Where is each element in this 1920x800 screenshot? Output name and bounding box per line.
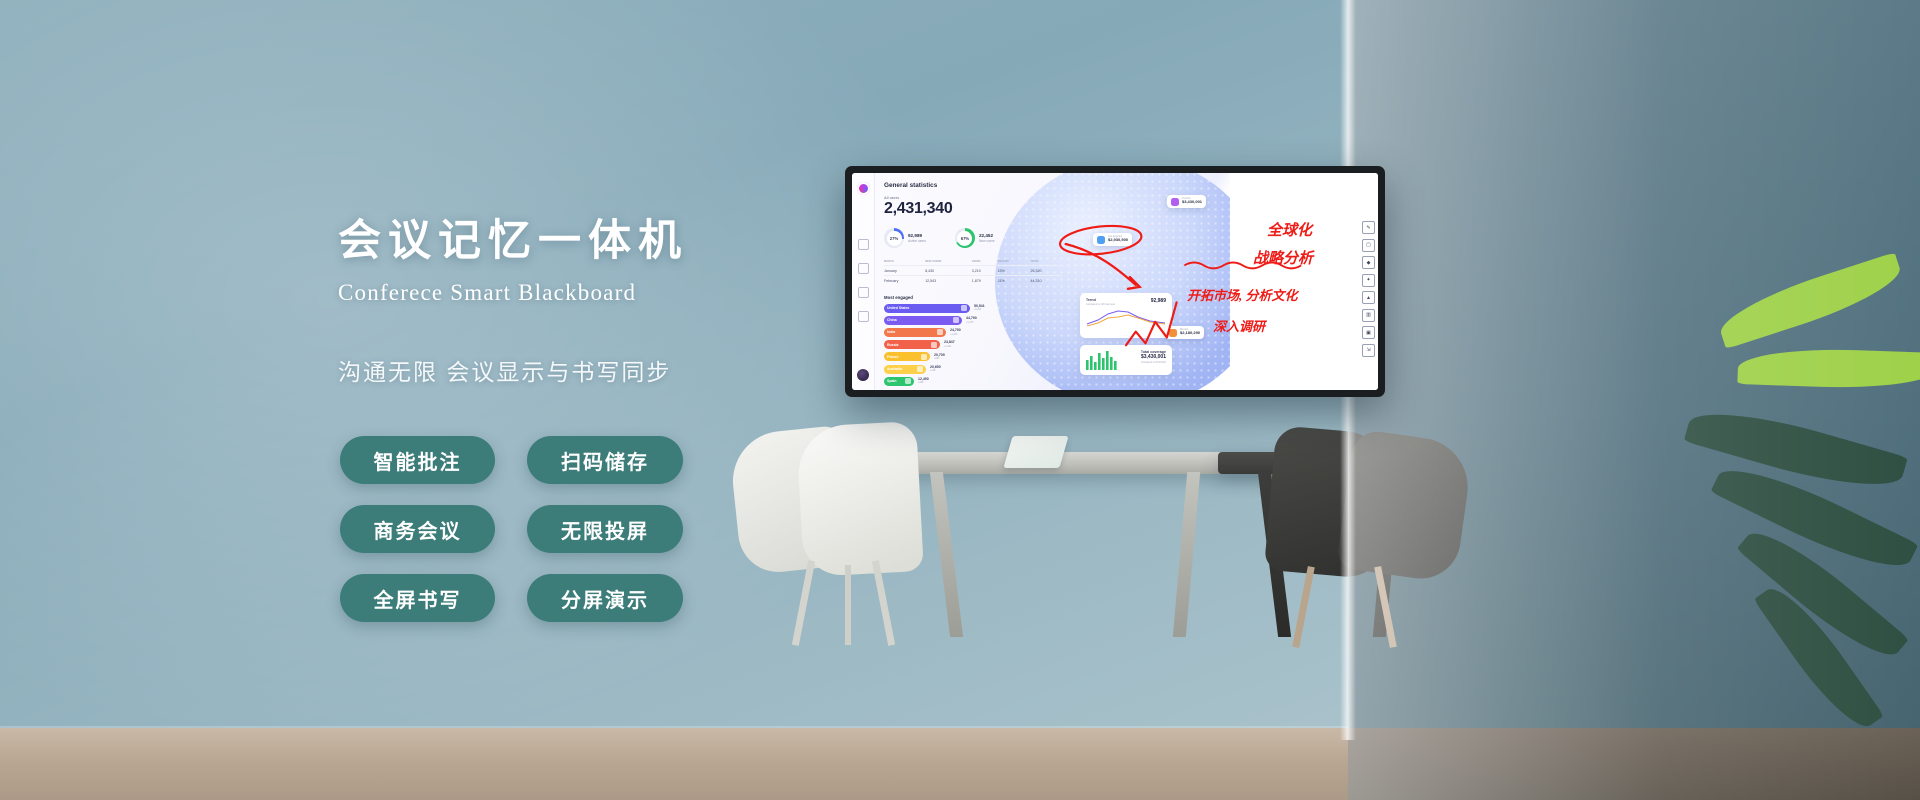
feature-pill-business-meeting[interactable]: 商务会议 [340,505,495,553]
feature-pill-fullscreen-write[interactable]: 全屏书写 [340,574,495,622]
sidebar-nav [858,239,869,322]
marker-value: $2,930,500 [1108,238,1128,243]
table-cell: 12,543 [925,276,972,286]
trend-card: Trend Compared to 12% last year 92,989 [1080,293,1172,338]
chair-leg [845,565,851,645]
ink-note: 深入调研 [1213,316,1265,335]
country-bar[interactable]: Australia [884,365,926,374]
country-flag-icon [937,329,943,335]
marker-value: $3,430,001 [1182,200,1202,205]
table-cell: 44,310 [1030,276,1062,286]
page-title: 会议记忆一体机 [338,206,898,268]
feature-pill-grid: 智能批注 扫码储存 商务会议 无限投屏 全屏书写 分屏演示 [340,436,760,643]
line-chart [1086,306,1166,328]
table-header-cell: MONTH [884,258,925,266]
highlighter-icon[interactable]: ✦ [1362,274,1375,287]
chair [796,421,924,577]
feature-pill-row: 智能批注 扫码储存 [340,436,760,484]
all-users-total: 2,431,340 [884,201,1069,217]
country-name: Russia [887,343,898,347]
panel-title: General statistics [884,182,1069,189]
country-delta: +1,200 [950,333,961,336]
save-icon[interactable]: ▥ [1362,309,1375,322]
country-delta: +1,021 [944,345,955,348]
marker-icon [1171,198,1179,206]
table-cell: 13% [998,266,1031,276]
table-header-cell: NEW USERS [925,258,972,266]
donut-ring: 27% [884,228,904,248]
database-icon[interactable] [858,287,869,298]
country-flag-icon [953,317,959,323]
table-cell: January [884,266,925,276]
country-value: 44,790 [966,317,977,321]
feature-pill-scan-save[interactable]: 扫码储存 [527,436,683,484]
table-row: January8,4303,21013%25,320 [884,266,1062,276]
donut-percent: 67% [957,231,972,246]
floor-shadow [1348,728,1920,800]
country-name: Australia [887,367,902,371]
country-flag-icon [931,342,937,348]
chair [1336,428,1474,583]
table-cell: 1,879 [972,276,998,286]
card-value: $3,430,001 [1141,354,1166,360]
marker-icon[interactable]: ▲ [1362,291,1375,304]
donut-percent: 27% [887,231,902,246]
country-bar[interactable]: France [884,352,930,361]
display-screen[interactable]: General statistics All users 2,431,340 2… [852,173,1378,390]
country-bar[interactable]: China [884,316,962,325]
list-item[interactable]: India 24,790 +1,200 [884,328,1069,337]
hero-copy: 会议记忆一体机 Conferece Smart Blackboard 沟通无限 … [338,206,898,387]
ink-note: 战略分析 [1253,247,1313,268]
metric-cards: Trend Compared to 12% last year 92,989 [1080,293,1172,382]
card-sub: Compared to 8/31/2021 [1141,361,1166,364]
list-item[interactable]: France 20,709 +863 [884,352,1069,361]
map-marker[interactable]: Mexico $2,180,290 [1165,326,1204,339]
map-marker[interactable]: Toronto $3,430,001 [1167,195,1206,208]
list-item[interactable]: United States 50,541 +5,203 [884,304,1069,313]
country-flag-icon [917,366,923,372]
smart-blackboard-display[interactable]: General statistics All users 2,431,340 2… [845,166,1385,397]
table-cell: 25,320 [1030,266,1062,276]
country-name: Spain [887,379,897,383]
feature-pill-split-screen[interactable]: 分屏演示 [527,574,683,622]
country-delta: +863 [934,357,945,360]
donut-value: 22,452 [979,233,995,238]
table-cell: February [884,276,925,286]
country-name: France [887,355,898,359]
table-cell: 21% [998,276,1031,286]
pen-toolbar: ✎▢◆✦▲▥▣⇲ [1362,221,1375,357]
dashboard-sidebar[interactable] [852,173,875,390]
page-tagline: 沟通无限 会议显示与书写同步 [338,353,898,387]
statistics-panel: General statistics All users 2,431,340 2… [884,182,1069,386]
card-value: 92,989 [1151,298,1166,304]
bar-chart [1086,350,1120,370]
whiteboard-area [1230,173,1378,390]
country-delta: +418 [930,369,941,372]
country-name: India [887,330,895,334]
country-flag-icon [961,305,967,311]
coverage-card: Total coverage $3,430,001 Compared to 8/… [1080,345,1172,375]
table-cell: 8,430 [925,266,972,276]
tablet-device [1003,436,1068,468]
country-delta: +909 [918,381,929,384]
stats-table: MONTHNEW USERSVIEWSTRAFFICTOTAL January8… [884,258,1062,285]
feature-pill-wireless-cast[interactable]: 无限投屏 [527,505,683,553]
screenshot-icon[interactable]: ▣ [1362,326,1375,339]
dashboard-icon[interactable] [858,239,869,250]
feature-pill-row: 全屏书写 分屏演示 [340,574,760,622]
list-item[interactable]: Australia 20,650 +418 [884,365,1069,374]
share-icon[interactable]: ⇲ [1362,344,1375,357]
most-engaged-list: United States 50,541 +5,203 China 44,790… [884,304,1069,386]
country-bar[interactable]: United States [884,304,970,313]
donut-new-users: 67% 22,452 New users [955,228,995,248]
country-delta: +1,470 [966,321,977,324]
eraser-icon[interactable]: ◆ [1362,256,1375,269]
chart-icon[interactable] [858,263,869,274]
country-name: United States [887,306,909,310]
table-header-row: MONTHNEW USERSVIEWSTRAFFICTOTAL [884,258,1062,266]
country-bar[interactable]: Spain [884,377,914,386]
card-label: Trend [1086,298,1115,302]
dashboard-board: General statistics All users 2,431,340 2… [875,173,1378,390]
marker-icon [1169,329,1177,337]
table-cell: 3,210 [972,266,998,276]
country-bar[interactable]: Russia [884,340,940,349]
donut-group: 27% 92,989 Active users 67% 22,452 New u… [884,228,1069,248]
country-flag-icon [905,378,911,384]
list-item[interactable]: Russia 23,847 +1,021 [884,340,1069,349]
map-marker[interactable]: Los Angeles $2,930,500 [1093,233,1132,246]
donut-active-users: 27% 92,989 Active users [884,228,926,248]
ink-note: 全球化 [1267,219,1312,240]
list-item[interactable]: China 44,790 +1,470 [884,316,1069,325]
donut-ring: 67% [955,228,975,248]
table-header-cell: VIEWS [972,258,998,266]
list-item[interactable]: Spain 12,490 +909 [884,377,1069,386]
table-header-cell: TRAFFIC [998,258,1031,266]
settings-icon[interactable] [858,311,869,322]
donut-label: New users [979,239,995,243]
ink-note: 开拓市场, 分析文化 [1187,285,1298,304]
marker-icon [1097,236,1105,244]
donut-value: 92,989 [908,233,926,238]
hero-banner: 会议记忆一体机 Conferece Smart Blackboard 沟通无限 … [0,0,1920,800]
table-header-cell: TOTAL [1030,258,1062,266]
country-flag-icon [921,354,927,360]
plant-decoration [1570,300,1920,720]
shape-icon[interactable]: ▢ [1362,239,1375,252]
avatar[interactable] [857,369,869,381]
page-subtitle-en: Conferece Smart Blackboard [338,280,898,306]
app-logo-icon [857,182,870,195]
marker-value: $2,180,290 [1180,331,1200,336]
table-row: February12,5431,87921%44,310 [884,276,1062,286]
country-delta: +5,203 [974,308,985,311]
feature-pill-annotation[interactable]: 智能批注 [340,436,495,484]
pen-icon[interactable]: ✎ [1362,221,1375,234]
donut-label: Active users [908,239,926,243]
feature-pill-row: 商务会议 无限投屏 [340,505,760,553]
country-bar[interactable]: India [884,328,946,337]
most-engaged-title: Most engaged [884,295,1069,300]
country-name: China [887,318,897,322]
